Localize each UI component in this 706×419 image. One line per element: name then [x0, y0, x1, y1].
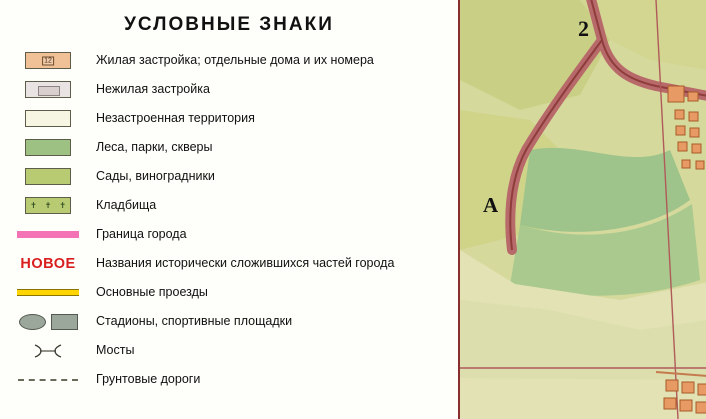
non-residential-building-swatch	[0, 75, 96, 104]
legend-label-gardens: Сады, виноградники	[96, 170, 215, 184]
legend-row-forest: Леса, парки, скверы	[0, 133, 458, 162]
garden-vineyard-icon	[25, 168, 71, 185]
legend-row-residential: 12 Жилая застройка; отдельные дома и их …	[0, 46, 458, 75]
legend-label-bridges: Мосты	[96, 344, 134, 358]
legend-row-gardens: Сады, виноградники	[0, 162, 458, 191]
garden-vineyard-swatch	[0, 162, 96, 191]
historic-district-name-swatch: НОВОЕ	[0, 249, 96, 278]
stadium-sports-ground-swatch	[0, 307, 96, 336]
residential-building-swatch: 12	[0, 46, 96, 75]
dirt-road-icon	[18, 379, 78, 381]
bridge-swatch	[0, 336, 96, 365]
legend-label-cemetery: Кладбища	[96, 199, 156, 213]
dirt-road-swatch	[0, 365, 96, 394]
bridge-icon	[31, 344, 65, 358]
cemetery-swatch: ✝ ✝ ✝	[0, 191, 96, 220]
grid-label-2: 2	[578, 16, 589, 42]
city-boundary-swatch	[0, 220, 96, 249]
legend-label-stadiums: Стадионы, спортивные площадки	[96, 315, 292, 329]
stadium-oval-icon	[19, 314, 46, 330]
legend-title: УСЛОВНЫЕ ЗНАКИ	[0, 14, 458, 36]
legend-label-main-roads: Основные проезды	[96, 286, 208, 300]
legend-label-forest: Леса, парки, скверы	[96, 141, 212, 155]
legend-row-cemetery: ✝ ✝ ✝ Кладбища	[0, 191, 458, 220]
cross-icon: ✝	[45, 202, 52, 210]
legend-label-residential: Жилая застройка; отдельные дома и их ном…	[96, 54, 374, 68]
main-road-icon	[17, 289, 79, 296]
forest-park-icon	[25, 139, 71, 156]
cemetery-icon: ✝ ✝ ✝	[25, 197, 71, 214]
legend-row-main-roads: Основные проезды	[0, 278, 458, 307]
legend-panel: УСЛОВНЫЕ ЗНАКИ 12 Жилая застройка; отдел…	[0, 0, 458, 419]
undeveloped-area-swatch	[0, 104, 96, 133]
legend-row-city-boundary: Граница города	[0, 220, 458, 249]
residential-building-icon: 12	[25, 52, 71, 69]
legend-label-city-boundary: Граница города	[96, 228, 187, 242]
non-residential-building-icon	[25, 81, 71, 98]
legend-row-stadiums: Стадионы, спортивные площадки	[0, 307, 458, 336]
non-residential-inner-shape	[38, 86, 60, 96]
legend-label-dirt-roads: Грунтовые дороги	[96, 373, 200, 387]
map-preview-panel: 2 A	[458, 0, 706, 419]
forest-park-swatch	[0, 133, 96, 162]
sports-ground-rect-icon	[51, 314, 78, 330]
undeveloped-area-icon	[25, 110, 71, 127]
stadium-icons-group	[19, 314, 78, 330]
legend-row-non-residential: Нежилая застройка	[0, 75, 458, 104]
legend-row-undeveloped: Незастроенная территория	[0, 104, 458, 133]
legend-row-bridges: Мосты	[0, 336, 458, 365]
legend-row-dirt-roads: Грунтовые дороги	[0, 365, 458, 394]
legend-and-map-page: УСЛОВНЫЕ ЗНАКИ 12 Жилая застройка; отдел…	[0, 0, 706, 419]
house-number-label: 12	[42, 56, 54, 65]
cross-icon: ✝	[59, 202, 66, 210]
cross-icon: ✝	[30, 202, 37, 210]
legend-label-undeveloped: Незастроенная территория	[96, 112, 255, 126]
grid-label-A: A	[483, 193, 498, 218]
legend-label-historic-name: Названия исторически сложившихся частей …	[96, 257, 394, 271]
legend-label-non-residential: Нежилая застройка	[96, 83, 210, 97]
legend-row-historic-name: НОВОЕ Названия исторически сложившихся ч…	[0, 249, 458, 278]
city-boundary-icon	[17, 231, 79, 238]
legend-rows: 12 Жилая застройка; отдельные дома и их …	[0, 46, 458, 394]
historic-district-sample-text: НОВОЕ	[20, 256, 75, 272]
main-road-swatch	[0, 278, 96, 307]
